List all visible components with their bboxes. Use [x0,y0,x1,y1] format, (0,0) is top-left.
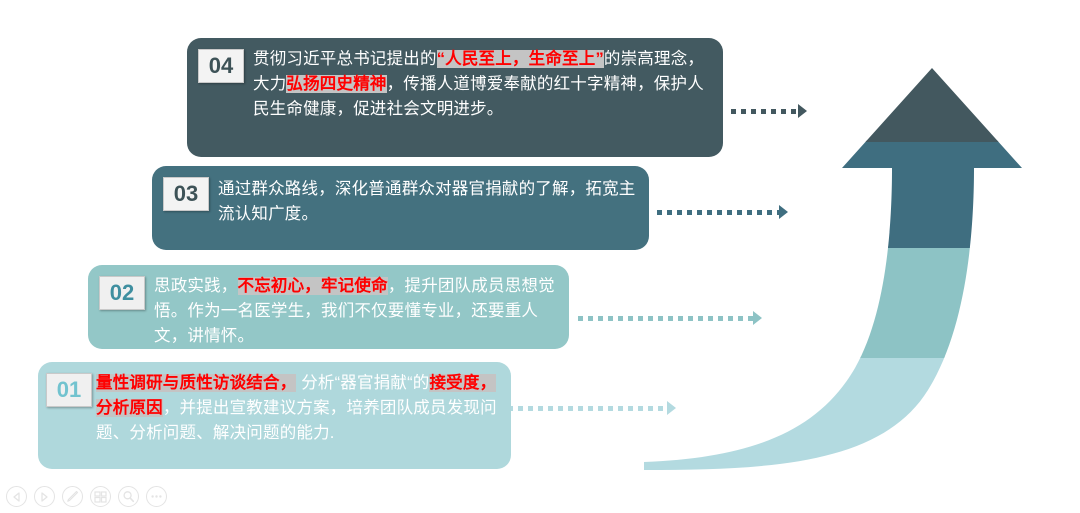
connector-dots [508,406,667,411]
highlighted-text: “人民至上，生命至上” [437,50,604,68]
step-number-badge-03: 03 [163,177,209,211]
arrow-segment-1 [640,356,1040,470]
arrow-segment-2 [640,246,1040,358]
highlighted-text: 量性调研与质性访谈结合， [96,374,296,392]
step-number-badge-02: 02 [99,276,145,310]
body-text: 思政实践， [154,277,238,295]
previous-icon [12,492,21,502]
step-number-badge-04: 04 [198,49,244,83]
step-text-02: 思政实践，不忘初心，牢记使命，提升团队成员思想觉悟。作为一名医学生，我们不仅要懂… [154,274,559,349]
pen-button[interactable] [62,486,83,507]
connector-arrowhead-icon [779,205,788,219]
pen-icon [66,490,79,503]
body-text: 分析“器官捐献“的 [296,374,429,392]
connector-arrow-03 [657,205,788,219]
connector-arrowhead-icon [753,311,762,325]
step-box-04[interactable]: 04 贯彻习近平总书记提出的“人民至上，生命至上”的崇高理念，大力弘扬四史精神，… [187,38,723,157]
step-number-badge-01: 01 [46,373,92,407]
step-box-03[interactable]: 03 通过群众路线，深化普通群众对器官捐献的了解，拓宽主流认知广度。 [152,166,649,250]
step-text-04: 贯彻习近平总书记提出的“人民至上，生命至上”的崇高理念，大力弘扬四史精神，传播人… [253,47,713,122]
connector-arrow-01 [508,401,676,415]
body-text: 通过群众路线，深化普通群众对器官捐献的了解，拓宽主流认知广度。 [218,180,636,223]
previous-button[interactable] [6,486,27,507]
step-text-03: 通过群众路线，深化普通群众对器官捐献的了解，拓宽主流认知广度。 [218,175,639,227]
next-icon [40,492,49,502]
step-box-02[interactable]: 02 思政实践，不忘初心，牢记使命，提升团队成员思想觉悟。作为一名医学生，我们不… [88,265,569,349]
next-button[interactable] [34,486,55,507]
bottom-toolbar [6,486,167,507]
body-text: 贯彻习近平总书记提出的 [253,50,437,68]
connector-dots [578,316,753,321]
more-button[interactable] [146,486,167,507]
step-box-01[interactable]: 01 量性调研与质性访谈结合， 分析“器官捐献“的接受度，分析原因，并提出宣教建… [38,362,511,469]
zoom-button[interactable] [118,486,139,507]
connector-arrowhead-icon [667,401,676,415]
connector-dots [731,109,798,114]
highlighted-text: 不忘初心，牢记使命 [238,277,388,295]
highlighted-text: 弘扬四史精神 [286,75,386,93]
zoom-icon [122,490,135,503]
more-icon [150,494,163,499]
layout-button[interactable] [90,486,111,507]
connector-dots [657,210,779,215]
connector-arrow-02 [578,311,762,325]
step-text-01: 量性调研与质性访谈结合， 分析“器官捐献“的接受度，分析原因，并提出宣教建议方案… [96,371,501,446]
connector-arrow-04 [731,104,807,118]
slide-canvas: 04 贯彻习近平总书记提出的“人民至上，生命至上”的崇高理念，大力弘扬四史精神，… [0,0,1080,513]
connector-arrowhead-icon [798,104,807,118]
layout-icon [94,491,107,503]
